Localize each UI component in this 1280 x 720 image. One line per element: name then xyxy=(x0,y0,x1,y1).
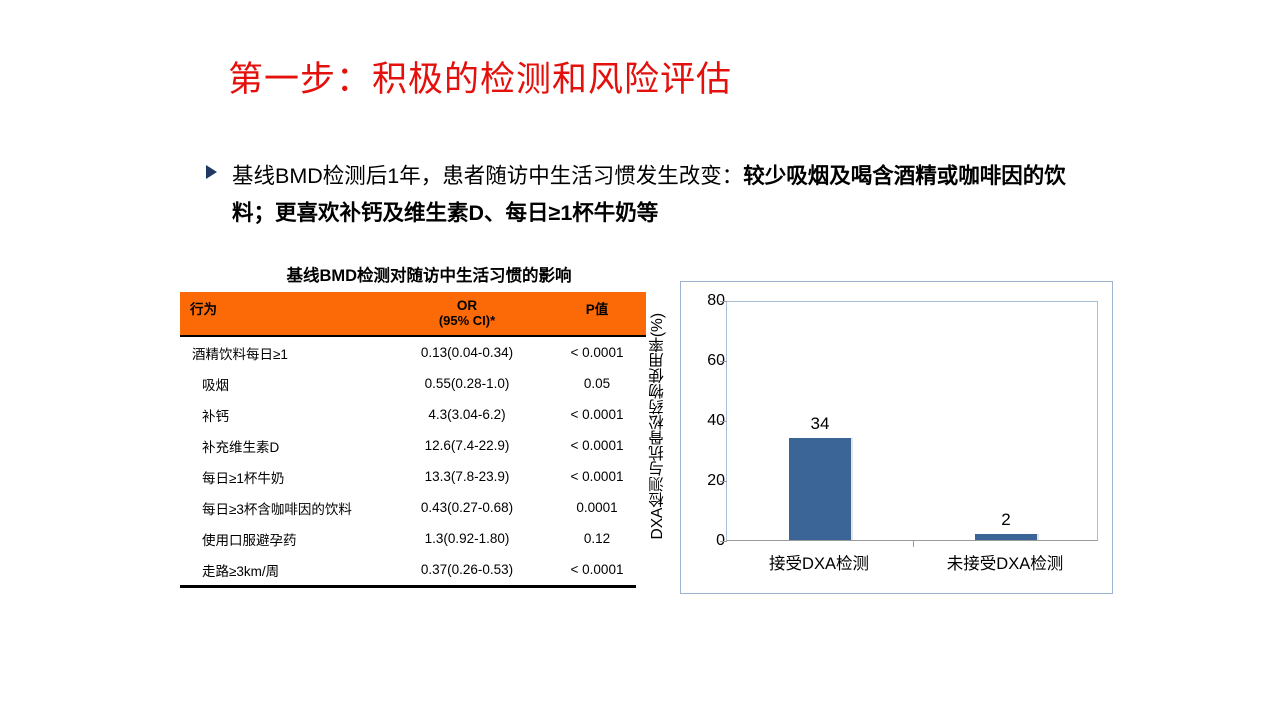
chart-plot-area: 342 xyxy=(726,301,1098,541)
bar-value-label: 34 xyxy=(811,414,830,434)
bar-2 xyxy=(975,534,1037,540)
y-axis-tick-label: 80 xyxy=(681,292,725,310)
behaviour-table: 行为 OR (95% CI)* P值 酒精饮料每日≥10.13(0.04-0.3… xyxy=(180,292,646,585)
table-row: 每日≥3杯含咖啡因的饮料0.43(0.27-0.68)0.0001 xyxy=(180,492,646,523)
table-row: 吸烟0.55(0.28-1.0)0.05 xyxy=(180,368,646,399)
x-axis-category-label: 未接受DXA检测 xyxy=(947,550,1063,574)
cell-or: 12.6(7.4-22.9) xyxy=(386,430,548,461)
table-row: 使用口服避孕药1.3(0.92-1.80)0.12 xyxy=(180,523,646,554)
y-axis-tick-mark xyxy=(720,481,727,482)
column-header-or-sublabel: (95% CI)* xyxy=(386,313,548,328)
column-header-or: OR (95% CI)* xyxy=(386,292,548,336)
cell-pvalue: 0.05 xyxy=(548,368,646,399)
cell-pvalue: 0.12 xyxy=(548,523,646,554)
cell-or: 1.3(0.92-1.80) xyxy=(386,523,548,554)
y-axis-tick-label: 60 xyxy=(681,352,725,370)
cell-behavior: 每日≥1杯牛奶 xyxy=(180,461,386,492)
cell-behavior: 酒精饮料每日≥1 xyxy=(180,336,386,368)
chart-y-axis-label: DXA检测与抗骨松药物使用率(%) xyxy=(643,281,673,571)
column-header-behavior-label: 行为 xyxy=(190,302,217,317)
cell-or: 0.55(0.28-1.0) xyxy=(386,368,548,399)
table-row: 走路≥3km/周0.37(0.26-0.53)< 0.0001 xyxy=(180,554,646,585)
y-axis-tick-label: 40 xyxy=(681,412,725,430)
y-axis-tick-mark xyxy=(720,541,727,542)
x-axis-category-label: 接受DXA检测 xyxy=(769,550,869,574)
cell-pvalue: < 0.0001 xyxy=(548,336,646,368)
cell-behavior: 每日≥3杯含咖啡因的饮料 xyxy=(180,492,386,523)
bullet-text-normal: 基线BMD检测后1年，患者随访中生活习惯发生改变： xyxy=(232,164,743,188)
y-axis-tick-label: 0 xyxy=(681,532,725,550)
table-row: 补钙4.3(3.04-6.2)< 0.0001 xyxy=(180,399,646,430)
y-axis-tick-mark xyxy=(720,301,727,302)
table-body: 酒精饮料每日≥10.13(0.04-0.34)< 0.0001吸烟0.55(0.… xyxy=(180,336,646,585)
cell-or: 4.3(3.04-6.2) xyxy=(386,399,548,430)
cell-or: 13.3(7.8-23.9) xyxy=(386,461,548,492)
bullet-text: 基线BMD检测后1年，患者随访中生活习惯发生改变：较少吸烟及喝含酒精或咖啡因的饮… xyxy=(232,158,1076,232)
bar-1 xyxy=(789,438,851,540)
column-header-pvalue: P值 xyxy=(548,292,646,336)
table-header-row: 行为 OR (95% CI)* P值 xyxy=(180,292,646,336)
bullet-paragraph: 基线BMD检测后1年，患者随访中生活习惯发生改变：较少吸烟及喝含酒精或咖啡因的饮… xyxy=(206,158,1076,232)
y-axis-tick-mark xyxy=(720,421,727,422)
table-row: 补充维生素D12.6(7.4-22.9)< 0.0001 xyxy=(180,430,646,461)
page-title: 第一步：积极的检测和风险评估 xyxy=(228,51,1128,102)
table-row: 酒精饮料每日≥10.13(0.04-0.34)< 0.0001 xyxy=(180,336,646,368)
cell-behavior: 补充维生素D xyxy=(180,430,386,461)
bar-chart: 342 020406080接受DXA检测未接受DXA检测 xyxy=(680,281,1113,594)
chart-y-axis-label-text: DXA检测与抗骨松药物使用率(%) xyxy=(647,313,669,539)
cell-or: 0.43(0.27-0.68) xyxy=(386,492,548,523)
x-axis-tick-mark xyxy=(913,540,914,547)
triangle-right-bullet-icon xyxy=(206,165,222,179)
table-caption: 基线BMD检测对随访中生活习惯的影响 xyxy=(222,262,636,286)
behaviour-table-block: 基线BMD检测对随访中生活习惯的影响 行为 OR (95% CI)* P值 酒精… xyxy=(180,262,636,588)
cell-pvalue: < 0.0001 xyxy=(548,461,646,492)
cell-pvalue: < 0.0001 xyxy=(548,430,646,461)
cell-behavior: 补钙 xyxy=(180,399,386,430)
cell-behavior: 吸烟 xyxy=(180,368,386,399)
cell-behavior: 走路≥3km/周 xyxy=(180,554,386,585)
cell-pvalue: < 0.0001 xyxy=(548,554,646,585)
cell-or: 0.13(0.04-0.34) xyxy=(386,336,548,368)
column-header-pvalue-label: P值 xyxy=(586,302,609,317)
cell-pvalue: 0.0001 xyxy=(548,492,646,523)
cell-or: 0.37(0.26-0.53) xyxy=(386,554,548,585)
table-bottom-rule xyxy=(180,585,636,588)
column-header-or-label: OR xyxy=(457,298,477,313)
column-header-behavior: 行为 xyxy=(180,292,386,336)
cell-pvalue: < 0.0001 xyxy=(548,399,646,430)
table-row: 每日≥1杯牛奶13.3(7.8-23.9)< 0.0001 xyxy=(180,461,646,492)
chart-plot-wrapper: 342 020406080接受DXA检测未接受DXA检测 xyxy=(681,282,1114,595)
y-axis-tick-label: 20 xyxy=(681,472,725,490)
y-axis-tick-mark xyxy=(720,361,727,362)
bar-value-label: 2 xyxy=(1001,510,1010,530)
cell-behavior: 使用口服避孕药 xyxy=(180,523,386,554)
